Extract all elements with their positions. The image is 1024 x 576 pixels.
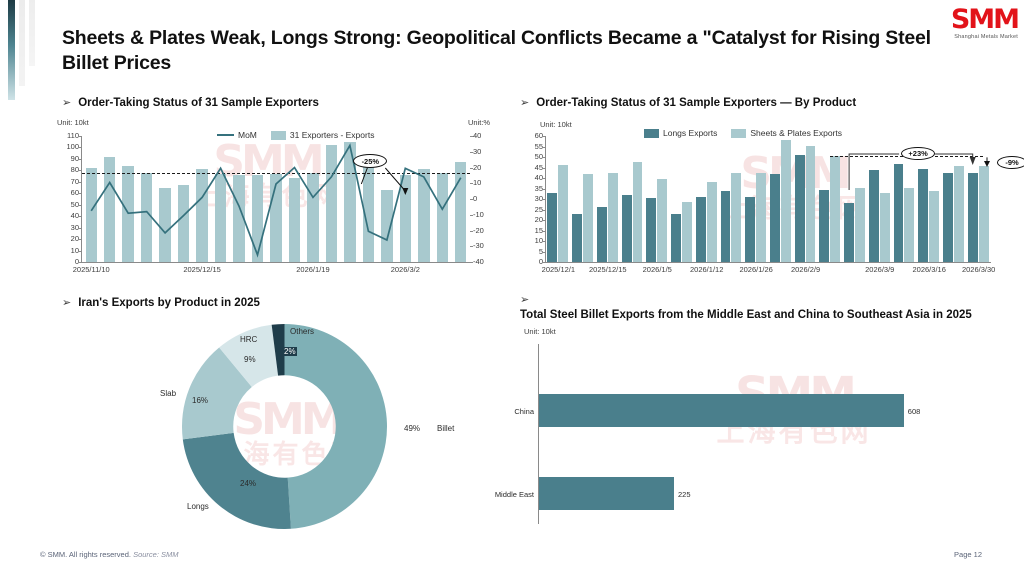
bar-sheets-plates-exports <box>731 173 741 262</box>
x-tick-label-tl: 2025/12/15 <box>176 265 228 274</box>
legend-item-label: Longs Exports <box>663 128 717 138</box>
bullet-arrow-icon: ➢ <box>62 97 75 111</box>
y-axis-line-tl <box>81 136 82 262</box>
y-tick-label-right: 40 <box>473 132 481 140</box>
bullet-arrow-icon: ➢ <box>62 297 75 311</box>
bar-sheets-plates-exports <box>954 166 964 262</box>
y-tick-label-right: -20 <box>473 227 484 235</box>
y-tick-mark-right <box>470 199 473 200</box>
bar-longs-exports <box>597 207 607 262</box>
page-title: Sheets & Plates Weak, Longs Strong: Geop… <box>62 26 962 76</box>
y-tick-label-right: 10 <box>473 179 481 187</box>
footer-copyright: © SMM. All rights reserved. Source: SMM <box>40 550 179 559</box>
y-tick-label-tr: 50 <box>527 153 543 161</box>
bar-sheets-plates-exports <box>929 191 939 262</box>
y-tick-label-tr: 60 <box>527 132 543 140</box>
y-tick-label-right: 0 <box>473 195 477 203</box>
y-tick-label-left: 50 <box>55 201 79 209</box>
y-tick-label-tr: 5 <box>527 248 543 256</box>
bar-longs-exports <box>770 174 780 262</box>
bar-sheets-plates-exports <box>558 165 568 262</box>
x-axis-line-tl <box>81 262 470 263</box>
bar-sheets-plates-exports <box>707 182 717 262</box>
bar-longs-exports <box>918 169 928 262</box>
chart-billet-exports-sea: SMM 上海有色网 China608Middle East225 <box>524 334 1009 530</box>
y-axis-line-tr <box>545 136 546 262</box>
y-tick-label-left: 110 <box>55 132 79 140</box>
y-tick-label-left: 20 <box>55 235 79 243</box>
stripe-grey-2 <box>29 0 35 66</box>
donut-value-longs: 24% <box>240 479 256 488</box>
chart-exporters-combo: SMM 上海有色网 0102030405060708090100110 -40-… <box>52 128 507 278</box>
bar-sheets-plates-exports <box>633 162 643 262</box>
mom-line-series <box>82 136 470 262</box>
y-tick-label-left: 60 <box>55 189 79 197</box>
bar-longs-exports <box>696 197 706 262</box>
y-tick-label-left: 10 <box>55 247 79 255</box>
bar-sheets-plates-exports <box>830 156 840 262</box>
donut-slice-longs <box>183 433 291 529</box>
y-tick-label-tr: 15 <box>527 227 543 235</box>
x-tick-label-tr: 2026/2/9 <box>780 265 832 274</box>
x-tick-label-tr: 2026/3/9 <box>854 265 906 274</box>
y-tick-label-left: 30 <box>55 224 79 232</box>
section-title-text: Total Steel Billet Exports from the Midd… <box>520 308 972 322</box>
y-tick-mark-right <box>470 168 473 169</box>
y-axis-right-tl: -40-30-20-10010203040 <box>470 136 504 262</box>
bar-middle-east <box>539 477 674 510</box>
bar-sheets-plates-exports <box>657 179 667 262</box>
legend-item-longs: Longs Exports <box>644 128 717 138</box>
legend-item-exports: 31 Exporters - Exports <box>271 130 375 140</box>
bar-sheets-plates-exports <box>806 146 816 262</box>
donut-value-hrc: 9% <box>244 355 256 364</box>
bar-sheets-plates-exports <box>904 188 914 262</box>
bar-longs-exports <box>795 155 805 262</box>
bar-longs-exports <box>968 173 978 262</box>
bar-longs-exports <box>572 214 582 262</box>
category-label-china: China <box>478 407 534 416</box>
y-tick-label-tr: 55 <box>527 143 543 151</box>
y-tick-label-right: 30 <box>473 148 481 156</box>
bar-longs-exports <box>869 170 879 262</box>
y-tick-label-left: 100 <box>55 143 79 151</box>
legend-tl: MoM31 Exporters - Exports <box>217 130 384 140</box>
donut-label-hrc: HRC <box>240 335 257 344</box>
x-tick-label-tr: 2026/3/30 <box>953 265 1005 274</box>
value-label-middle-east: 225 <box>678 490 691 499</box>
bar-longs-exports <box>646 198 656 262</box>
section-heading-top-left: ➢ Order-Taking Status of 31 Sample Expor… <box>62 96 492 111</box>
bar-sheets-plates-exports <box>756 173 766 262</box>
y-tick-label-tr: 30 <box>527 195 543 203</box>
footer-page-number: Page 12 <box>954 550 982 559</box>
x-tick-label-tr: 2026/1/26 <box>730 265 782 274</box>
stripe-grey-1 <box>19 0 25 86</box>
bar-longs-exports <box>844 203 854 262</box>
decorative-stripes <box>0 0 46 120</box>
chart-exporters-by-product: SMM 上海有色网 051015202530354045505560 2025/… <box>524 126 1009 278</box>
donut-value-slab: 16% <box>192 396 208 405</box>
section-heading-bottom-left: ➢ Iran's Exports by Product in 2025 <box>62 296 482 311</box>
y-tick-label-right: -30 <box>473 242 484 250</box>
bar-sheets-plates-exports <box>583 174 593 262</box>
legend-item-label: Sheets & Plates Exports <box>750 128 842 138</box>
section-title-text: Order-Taking Status of 31 Sample Exporte… <box>78 96 319 110</box>
bar-longs-exports <box>819 190 829 262</box>
section-title-text: Iran's Exports by Product in 2025 <box>78 296 260 310</box>
bullet-arrow-icon: ➢ <box>520 294 533 308</box>
legend-item-mom: MoM <box>217 130 257 140</box>
y-tick-label-right: -40 <box>473 258 484 266</box>
y-axis-left-tr: 051015202530354045505560 <box>524 136 546 262</box>
y-tick-label-tr: 40 <box>527 174 543 182</box>
x-tick-label-tr: 2026/1/5 <box>631 265 683 274</box>
footer-copyright-text: © SMM. All rights reserved. <box>40 550 131 559</box>
x-tick-label-tl: 2025/11/10 <box>65 265 117 274</box>
y-tick-label-left: 80 <box>55 166 79 174</box>
y-tick-label-left: 70 <box>55 178 79 186</box>
x-axis-line-tr <box>545 262 991 263</box>
bar-longs-exports <box>622 195 632 262</box>
bar-sheets-plates-exports <box>608 173 618 262</box>
bar-longs-exports <box>894 164 904 262</box>
section-heading-bottom-right: ➢ Total Steel Billet Exports from the Mi… <box>520 293 980 322</box>
y-tick-mark-right <box>470 136 473 137</box>
y-tick-label-tr: 10 <box>527 237 543 245</box>
x-tick-label-tr: 2025/12/1 <box>532 265 584 274</box>
legend-tr: Longs ExportsSheets & Plates Exports <box>644 128 852 138</box>
footer-source-text: Source: SMM <box>133 550 178 559</box>
value-label-china: 608 <box>908 407 921 416</box>
bar-sheets-plates-exports <box>781 140 791 262</box>
annotation-callout-minus9: -9% <box>997 156 1024 169</box>
category-label-middle-east: Middle East <box>478 490 534 499</box>
y-tick-label-tr: 45 <box>527 164 543 172</box>
y-tick-mark-right <box>470 231 473 232</box>
x-tick-label-tl: 2026/1/19 <box>287 265 339 274</box>
section-heading-top-right: ➢ Order-Taking Status of 31 Sample Expor… <box>520 96 990 111</box>
y-tick-label-left: 40 <box>55 212 79 220</box>
y-tick-mark-right <box>470 246 473 247</box>
x-tick-label-tr: 2026/3/16 <box>903 265 955 274</box>
x-tick-label-tl: 2026/3/2 <box>379 265 431 274</box>
bar-sheets-plates-exports <box>855 188 865 262</box>
y-tick-label-right: -10 <box>473 211 484 219</box>
bar-longs-exports <box>671 214 681 262</box>
bullet-arrow-icon: ➢ <box>520 97 533 111</box>
y-tick-mark-right <box>470 262 473 263</box>
legend-item-label: 31 Exporters - Exports <box>290 130 375 140</box>
donut-label-slab: Slab <box>160 389 176 398</box>
donut-label-billet: Billet <box>437 424 454 433</box>
bar-longs-exports <box>547 193 557 262</box>
donut-slice-billet <box>285 324 387 529</box>
donut-value-others: 2% <box>283 347 297 356</box>
y-tick-mark-right <box>470 152 473 153</box>
y-tick-label-tr: 20 <box>527 216 543 224</box>
chart-iran-exports-donut: SMM 上海有色网 Billet49%Longs24%Slab16%HRC9%O… <box>52 312 507 534</box>
plot-area-tl <box>82 136 470 262</box>
y-tick-label-right: 20 <box>473 164 481 172</box>
y-axis-left-tl: 0102030405060708090100110 <box>52 136 82 262</box>
bar-sheets-plates-exports <box>682 202 692 262</box>
bar-sheets-plates-exports <box>880 193 890 262</box>
unit-label-left-tl: Unit: 10kt <box>57 118 89 127</box>
section-title-text: Order-Taking Status of 31 Sample Exporte… <box>536 96 856 110</box>
x-tick-label-tr: 2026/1/12 <box>681 265 733 274</box>
bar-longs-exports <box>745 197 755 262</box>
y-tick-label-left: 90 <box>55 155 79 163</box>
y-tick-mark-right <box>470 215 473 216</box>
stripe-accent <box>8 0 15 100</box>
bar-longs-exports <box>721 191 731 262</box>
unit-label-right-tl: Unit:% <box>468 118 490 127</box>
donut-value-billet: 49% <box>404 424 420 433</box>
bar-longs-exports <box>943 173 953 262</box>
donut-label-others: Others <box>290 327 314 336</box>
footer: © SMM. All rights reserved. Source: SMM … <box>0 550 1024 564</box>
y-tick-label-tr: 25 <box>527 206 543 214</box>
bar-china <box>539 394 904 427</box>
legend-color-swatch <box>271 131 286 140</box>
annotation-callout-plus23: +23% <box>901 147 935 160</box>
legend-color-swatch <box>644 129 659 138</box>
legend-line-swatch <box>217 134 234 136</box>
bar-sheets-plates-exports <box>979 166 989 262</box>
y-tick-mark-right <box>470 183 473 184</box>
donut-label-longs: Longs <box>187 502 209 511</box>
legend-item-sheets: Sheets & Plates Exports <box>731 128 842 138</box>
x-tick-label-tr: 2025/12/15 <box>582 265 634 274</box>
legend-color-swatch <box>731 129 746 138</box>
legend-item-label: MoM <box>238 130 257 140</box>
y-tick-label-tr: 35 <box>527 185 543 193</box>
